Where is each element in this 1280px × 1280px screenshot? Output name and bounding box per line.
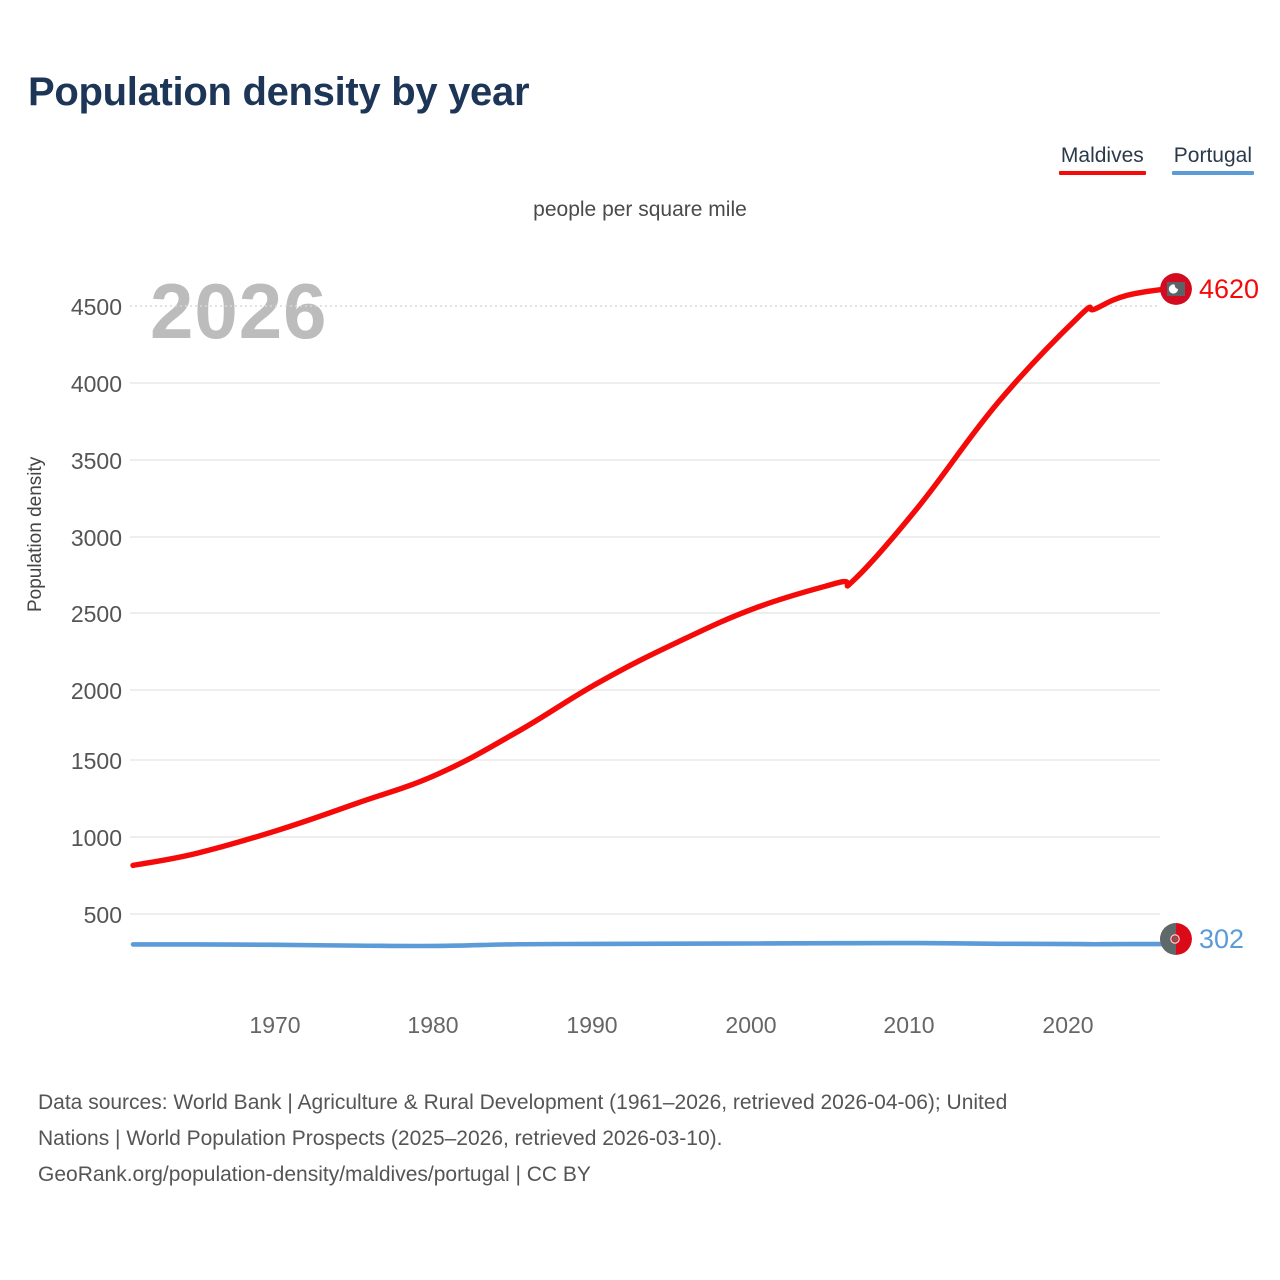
page-title: Population density by year	[28, 70, 529, 115]
footer-line-2: Nations | World Population Prospects (20…	[38, 1121, 1258, 1157]
x-tick-2020: 2020	[1008, 1012, 1128, 1039]
maldives-flag-icon	[1160, 273, 1192, 305]
x-tick-1990: 1990	[532, 1012, 652, 1039]
y-tick-1500: 1500	[2, 748, 122, 775]
portugal-flag-icon	[1160, 923, 1192, 955]
legend-item-maldives[interactable]: Maldives	[1059, 144, 1146, 175]
legend-label-portugal: Portugal	[1172, 144, 1254, 168]
line-portugal	[133, 943, 1175, 946]
legend-label-maldives: Maldives	[1059, 144, 1146, 168]
legend-rule-maldives	[1059, 171, 1146, 175]
portugal-endpoint-value: 302	[1199, 926, 1244, 953]
y-tick-1000: 1000	[2, 825, 122, 852]
y-tick-3000: 3000	[2, 525, 122, 552]
maldives-endpoint-value: 4620	[1199, 276, 1259, 303]
y-tick-2500: 2500	[2, 601, 122, 628]
y-tick-4000: 4000	[2, 371, 122, 398]
footer-sources: Data sources: World Bank | Agriculture &…	[38, 1085, 1258, 1193]
y-tick-4500: 4500	[2, 294, 122, 321]
x-tick-2010: 2010	[849, 1012, 969, 1039]
gridlines	[130, 306, 1160, 914]
line-maldives	[133, 288, 1175, 866]
portugal-endpoint[interactable]: 302	[1160, 923, 1244, 955]
y-tick-2000: 2000	[2, 678, 122, 705]
footer-line-3: GeoRank.org/population-density/maldives/…	[38, 1157, 1258, 1193]
legend-rule-portugal	[1172, 171, 1254, 175]
x-tick-2000: 2000	[691, 1012, 811, 1039]
footer-line-1: Data sources: World Bank | Agriculture &…	[38, 1085, 1258, 1121]
legend-item-portugal[interactable]: Portugal	[1172, 144, 1254, 175]
legend: Maldives Portugal	[1059, 144, 1254, 175]
x-tick-1980: 1980	[373, 1012, 493, 1039]
y-tick-3500: 3500	[2, 448, 122, 475]
y-tick-500: 500	[2, 902, 122, 929]
chart-subtitle: people per square mile	[0, 198, 1280, 222]
year-watermark: 2026	[150, 272, 328, 350]
x-tick-1970: 1970	[215, 1012, 335, 1039]
maldives-endpoint[interactable]: 4620	[1160, 273, 1259, 305]
series-lines	[133, 288, 1175, 946]
